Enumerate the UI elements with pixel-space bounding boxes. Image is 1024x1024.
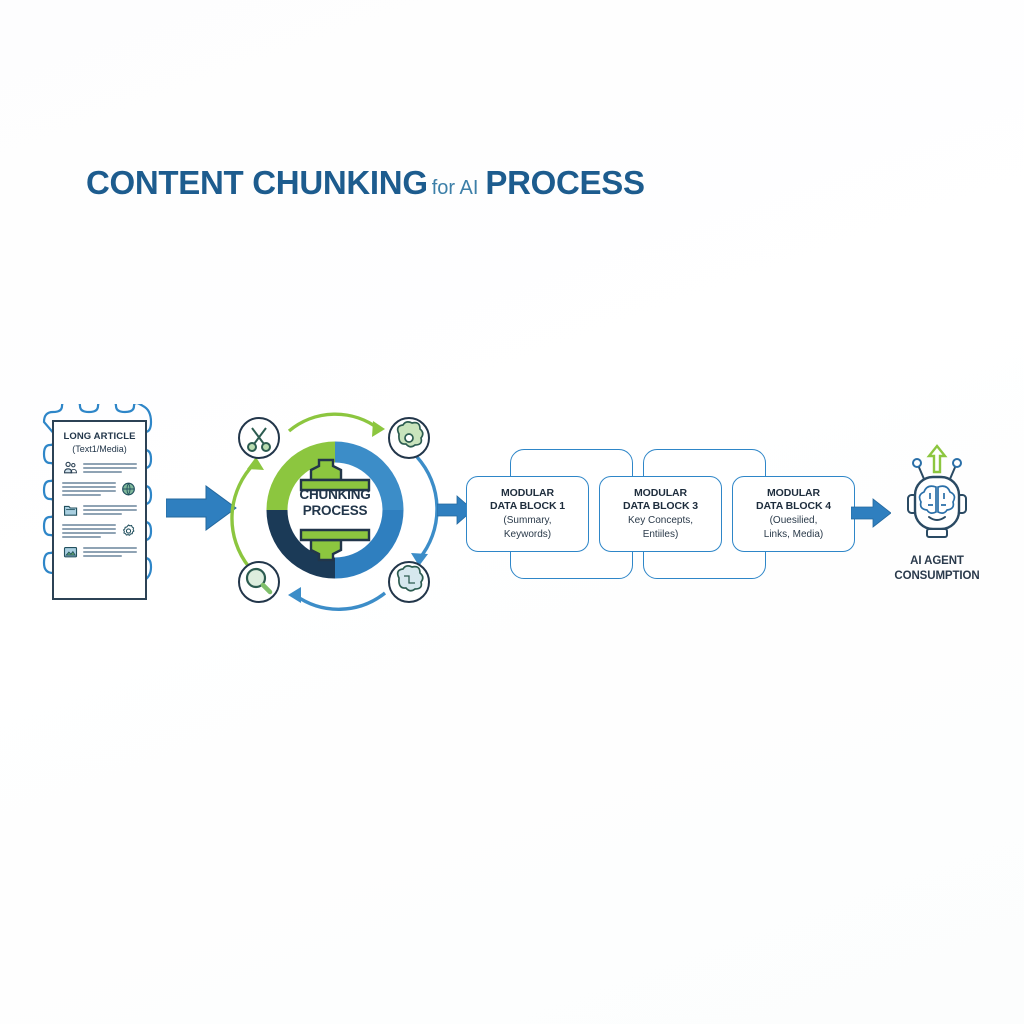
ai-agent-icon-group <box>890 443 984 553</box>
diagram-canvas: CONTENT CHUNKING for AI PROCESS LONG ART… <box>0 0 1024 1024</box>
title-part-3: PROCESS <box>485 164 644 202</box>
block-title-line2: DATA BLOCK 1 <box>490 500 565 513</box>
block-sub-line2: Keywords) <box>504 528 551 541</box>
brain-circuit-icon <box>389 562 429 602</box>
document-row <box>62 544 137 560</box>
modular-data-block[interactable]: MODULAR DATA BLOCK 4 (Ouesilied, Links, … <box>732 476 855 552</box>
folder-icon <box>62 502 79 518</box>
block-title-line2: DATA BLOCK 4 <box>756 500 831 513</box>
block-sub-line2: Entiiles) <box>643 528 679 541</box>
agent-label-line2: CONSUMPTION <box>862 569 1012 584</box>
modular-data-block[interactable]: MODULAR DATA BLOCK 3 Key Concepts, Entii… <box>599 476 722 552</box>
document-row <box>62 502 137 518</box>
block-sub-line1: (Summary, <box>503 514 551 527</box>
title-part-1: CONTENT CHUNKING <box>86 164 428 202</box>
document-text-lines <box>83 505 137 515</box>
document-row <box>62 460 137 476</box>
gear-icon <box>301 460 369 560</box>
block-sub-line1: (Ouesilied, <box>770 514 818 527</box>
cycle-arrow-right <box>411 457 437 566</box>
document-text-lines <box>62 482 116 496</box>
page-title: CONTENT CHUNKING for AI PROCESS <box>86 164 645 202</box>
document-title: LONG ARTICLE <box>62 431 137 443</box>
cycle-graphic <box>227 401 443 619</box>
title-part-2: for AI <box>428 177 486 200</box>
arrow-blocks-to-agent <box>851 497 891 529</box>
document-row <box>62 523 137 539</box>
robot-head-brain-icon <box>890 443 984 553</box>
modular-data-block[interactable]: MODULAR DATA BLOCK 1 (Summary, Keywords) <box>466 476 589 552</box>
block-sub-line2: Links, Media) <box>764 528 823 541</box>
chunking-process-cycle: CHUNKING PROCESS <box>227 401 443 619</box>
gear-icon <box>120 523 137 539</box>
block-title-line1: MODULAR <box>634 487 687 500</box>
document-text-lines <box>83 463 137 473</box>
cycle-arrow-left <box>232 457 264 567</box>
block-sub-line1: Key Concepts, <box>628 514 693 527</box>
document-text-lines <box>62 524 116 538</box>
ai-agent-label: AI AGENT CONSUMPTION <box>862 554 1012 584</box>
brain-gear-icon <box>389 418 429 458</box>
document-row <box>62 481 137 497</box>
cycle-arrow-top <box>289 414 385 437</box>
image-icon <box>62 544 79 560</box>
document-subtitle: (Text1/Media) <box>62 443 137 455</box>
cycle-arrow-bottom <box>288 587 385 609</box>
scissors-icon <box>239 418 279 458</box>
block-title-line2: DATA BLOCK 3 <box>623 500 698 513</box>
globe-icon <box>120 481 137 497</box>
document-body: LONG ARTICLE (Text1/Media) <box>52 420 147 600</box>
document-text-lines <box>83 547 137 557</box>
agent-label-line1: AI AGENT <box>862 554 1012 569</box>
block-title-line1: MODULAR <box>767 487 820 500</box>
source-document: LONG ARTICLE (Text1/Media) <box>36 404 163 616</box>
people-icon <box>62 460 79 476</box>
block-title-line1: MODULAR <box>501 487 554 500</box>
up-arrow-icon <box>929 446 945 472</box>
magnifier-icon <box>239 562 279 602</box>
modular-data-blocks: MODULAR DATA BLOCK 1 (Summary, Keywords)… <box>466 443 856 588</box>
